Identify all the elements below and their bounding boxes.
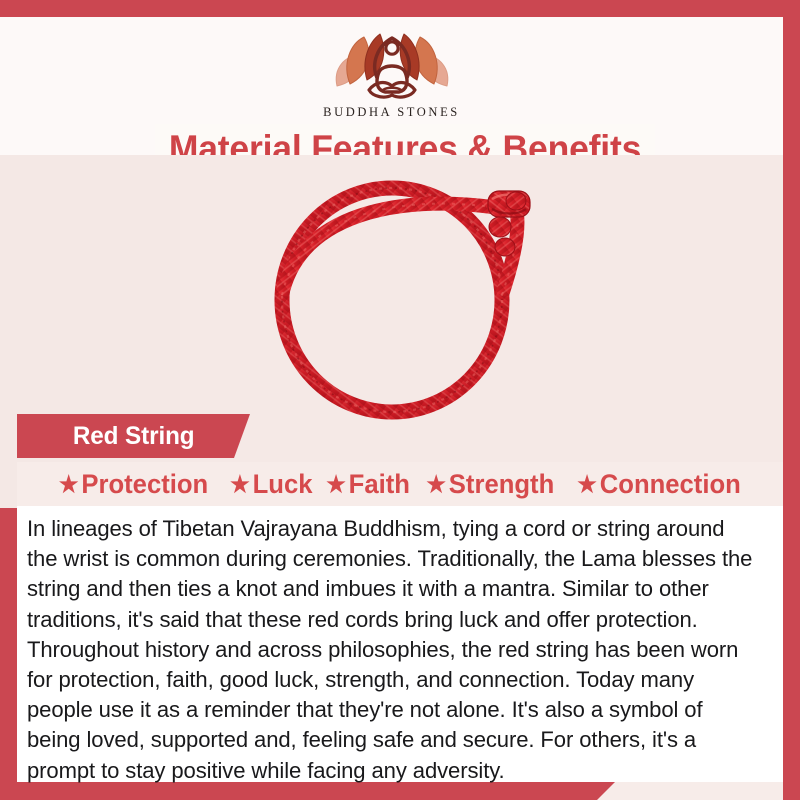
red-string-ribbon: Red String	[17, 414, 250, 458]
benefit-label: Protection	[81, 469, 208, 500]
lotus-meditation-icon	[317, 24, 467, 104]
benefit-label: Luck	[252, 469, 312, 500]
benefit-label: Faith	[349, 469, 410, 500]
brand-name: BUDDHA STONES	[0, 105, 783, 120]
star-icon: ★	[59, 473, 79, 496]
frame-top-bar	[0, 0, 800, 17]
benefit-faith: ★ Faith	[327, 469, 411, 500]
benefit-connection: ★ Connection	[578, 469, 742, 500]
description-text: In lineages of Tibetan Vajrayana Buddhis…	[27, 514, 758, 786]
ribbon-label: Red String	[73, 422, 195, 451]
benefit-label: Strength	[448, 469, 553, 500]
star-icon: ★	[578, 473, 598, 496]
benefit-luck: ★ Luck	[230, 469, 312, 500]
star-icon: ★	[426, 473, 446, 496]
brand-logo: BUDDHA STONES	[0, 24, 783, 120]
benefit-strength: ★ Strength	[426, 469, 554, 500]
star-icon: ★	[230, 473, 250, 496]
star-icon: ★	[327, 473, 347, 496]
poster-root: BUDDHA STONES Material Features & Benefi…	[0, 0, 800, 800]
benefit-protection: ★ Protection	[59, 469, 208, 500]
description-panel: In lineages of Tibetan Vajrayana Buddhis…	[17, 506, 783, 782]
benefits-row: ★ Protection ★ Luck ★ Faith ★ Strength ★…	[17, 462, 783, 506]
header-area: BUDDHA STONES Material Features & Benefi…	[0, 20, 783, 155]
benefit-label: Connection	[600, 469, 741, 500]
frame-right-bar	[783, 0, 800, 800]
